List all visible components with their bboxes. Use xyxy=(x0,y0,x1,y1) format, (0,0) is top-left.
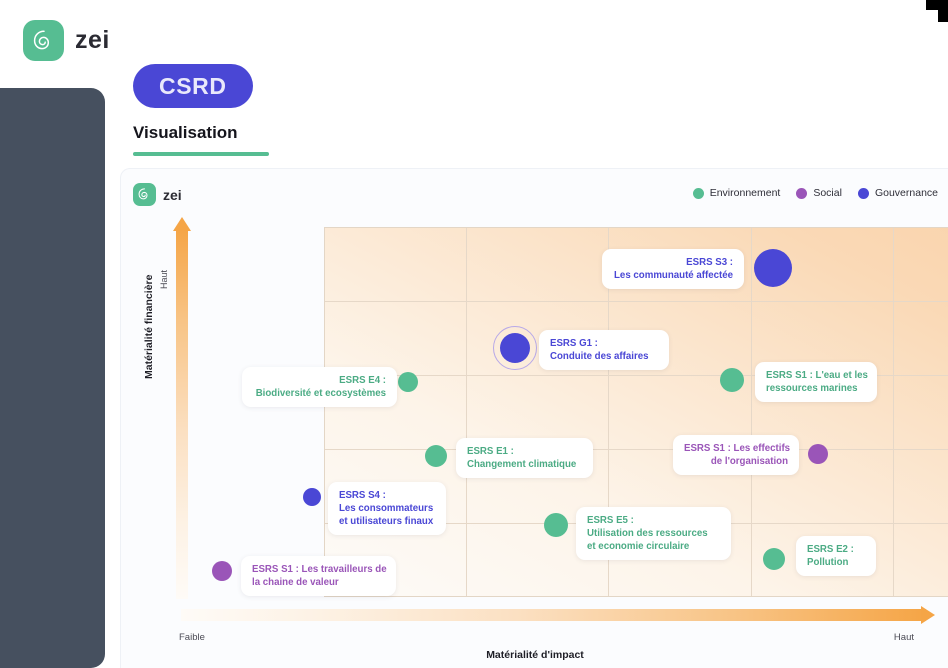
grid-line-vertical xyxy=(751,227,752,597)
brand: zei xyxy=(23,20,110,61)
grid-line-vertical xyxy=(893,227,894,597)
legend-dot-icon xyxy=(693,188,704,199)
tab-label: Visualisation xyxy=(133,123,238,152)
chart-label-esrs-e4[interactable]: ESRS E4 :Biodiversité et ecosystèmes xyxy=(242,367,397,407)
data-point-s1-travailleurs[interactable] xyxy=(212,561,232,581)
chart-label-line: ESRS E2 : xyxy=(807,543,865,556)
legend-item-label: Gouvernance xyxy=(875,187,938,199)
tab-active-underline xyxy=(133,152,269,156)
chart-legend: EnvironnementSocialGouvernance xyxy=(693,187,938,199)
legend-dot-icon xyxy=(858,188,869,199)
data-point-g1[interactable] xyxy=(500,333,530,363)
x-axis-high-tick: Haut xyxy=(894,632,914,643)
card-brand: zei xyxy=(133,183,182,206)
chart-label-line: de l'organisation xyxy=(684,455,788,468)
chart-label-esrs-s4[interactable]: ESRS S4 :Les consommateurset utilisateur… xyxy=(328,482,446,535)
chart-label-line: ESRS S4 : xyxy=(339,489,435,502)
zei-spiral-logo-icon-small xyxy=(133,183,156,206)
chart-label-line: Changement climatique xyxy=(467,458,582,471)
data-point-s4[interactable] xyxy=(303,488,321,506)
chart-label-line: ESRS E1 : xyxy=(467,445,582,458)
chart-label-line: ESRS S1 : Les travailleurs de xyxy=(252,563,385,576)
chart-card: zei EnvironnementSocialGouvernance Matér… xyxy=(120,168,948,668)
chart-label-line: la chaine de valeur xyxy=(252,576,385,589)
x-axis-arrowhead-icon xyxy=(921,606,935,624)
data-point-e5[interactable] xyxy=(544,513,568,537)
legend-dot-icon xyxy=(796,188,807,199)
data-point-e3-water[interactable] xyxy=(720,368,744,392)
zei-spiral-logo-icon xyxy=(23,20,64,61)
legend-item-label: Social xyxy=(813,187,842,199)
legend-item-environnement[interactable]: Environnement xyxy=(693,187,781,199)
plot-area: Matérialité financière Haut ESRS S3 :Les… xyxy=(121,219,948,668)
x-axis-low-tick: Faible xyxy=(179,632,205,643)
legend-item-social[interactable]: Social xyxy=(796,187,842,199)
card-brand-name: zei xyxy=(163,187,182,203)
grid-line-vertical xyxy=(466,227,467,597)
chart-label-esrs-e2[interactable]: ESRS E2 :Pollution xyxy=(796,536,876,576)
chart-label-esrs-e1[interactable]: ESRS E1 :Changement climatique xyxy=(456,438,593,478)
chart-label-line: et utilisateurs finaux xyxy=(339,515,435,528)
chart-label-line: ESRS S3 : xyxy=(613,256,733,269)
y-axis-high-tick: Haut xyxy=(159,270,169,289)
chart-card-header: zei EnvironnementSocialGouvernance xyxy=(121,169,948,219)
chart-label-line: ressources marines xyxy=(766,382,866,395)
chart-label-line: ESRS E5 : xyxy=(587,514,720,527)
chart-label-line: Pollution xyxy=(807,556,865,569)
grid-line-horizontal xyxy=(324,301,948,302)
sidebar-panel xyxy=(0,88,105,668)
y-axis-arrowhead-icon xyxy=(173,217,191,231)
chart-label-esrs-e5[interactable]: ESRS E5 :Utilisation des ressourceset ec… xyxy=(576,507,731,560)
legend-item-gouvernance[interactable]: Gouvernance xyxy=(858,187,938,199)
chart-label-line: Biodiversité et ecosystèmes xyxy=(253,387,386,400)
grid-line-horizontal xyxy=(324,449,948,450)
y-axis-title: Matérialité financière xyxy=(143,275,155,379)
chart-label-line: ESRS S1 : Les effectifs xyxy=(684,442,788,455)
data-point-e1[interactable] xyxy=(425,445,447,467)
chart-label-line: ESRS G1 : xyxy=(550,337,658,350)
brand-name: zei xyxy=(75,26,110,55)
data-point-e2[interactable] xyxy=(763,548,785,570)
legend-item-label: Environnement xyxy=(710,187,781,199)
data-point-s3[interactable] xyxy=(754,249,792,287)
chart-label-line: ESRS E4 : xyxy=(253,374,386,387)
chart-label-esrs-s3[interactable]: ESRS S3 :Les communauté affectée xyxy=(602,249,744,289)
chart-label-line: Conduite des affaires xyxy=(550,350,658,363)
x-axis-title: Matérialité d'impact xyxy=(121,649,948,661)
x-axis-arrow xyxy=(181,609,926,621)
chart-label-esrs-e3-water[interactable]: ESRS S1 : L'eau et lesressources marines xyxy=(755,362,877,402)
chart-label-esrs-s1-effectifs[interactable]: ESRS S1 : Les effectifsde l'organisation xyxy=(673,435,799,475)
chart-label-line: Utilisation des ressources xyxy=(587,527,720,540)
crop-corner-marker xyxy=(926,0,948,22)
tab-visualisation[interactable]: Visualisation xyxy=(133,123,273,156)
chart-label-line: et economie circulaire xyxy=(587,540,720,553)
chart-label-line: Les communauté affectée xyxy=(613,269,733,282)
chart-label-line: ESRS S1 : L'eau et les xyxy=(766,369,866,382)
chart-label-esrs-s1-travailleurs[interactable]: ESRS S1 : Les travailleurs dela chaine d… xyxy=(241,556,396,596)
csrd-badge[interactable]: CSRD xyxy=(133,64,253,108)
app-root: zei CSRD Visualisation zei Environnement… xyxy=(0,0,948,668)
chart-label-line: Les consommateurs xyxy=(339,502,435,515)
data-point-e4[interactable] xyxy=(398,372,418,392)
chart-label-esrs-g1[interactable]: ESRS G1 :Conduite des affaires xyxy=(539,330,669,370)
data-point-s1-effectifs[interactable] xyxy=(808,444,828,464)
y-axis-arrow xyxy=(176,229,188,599)
